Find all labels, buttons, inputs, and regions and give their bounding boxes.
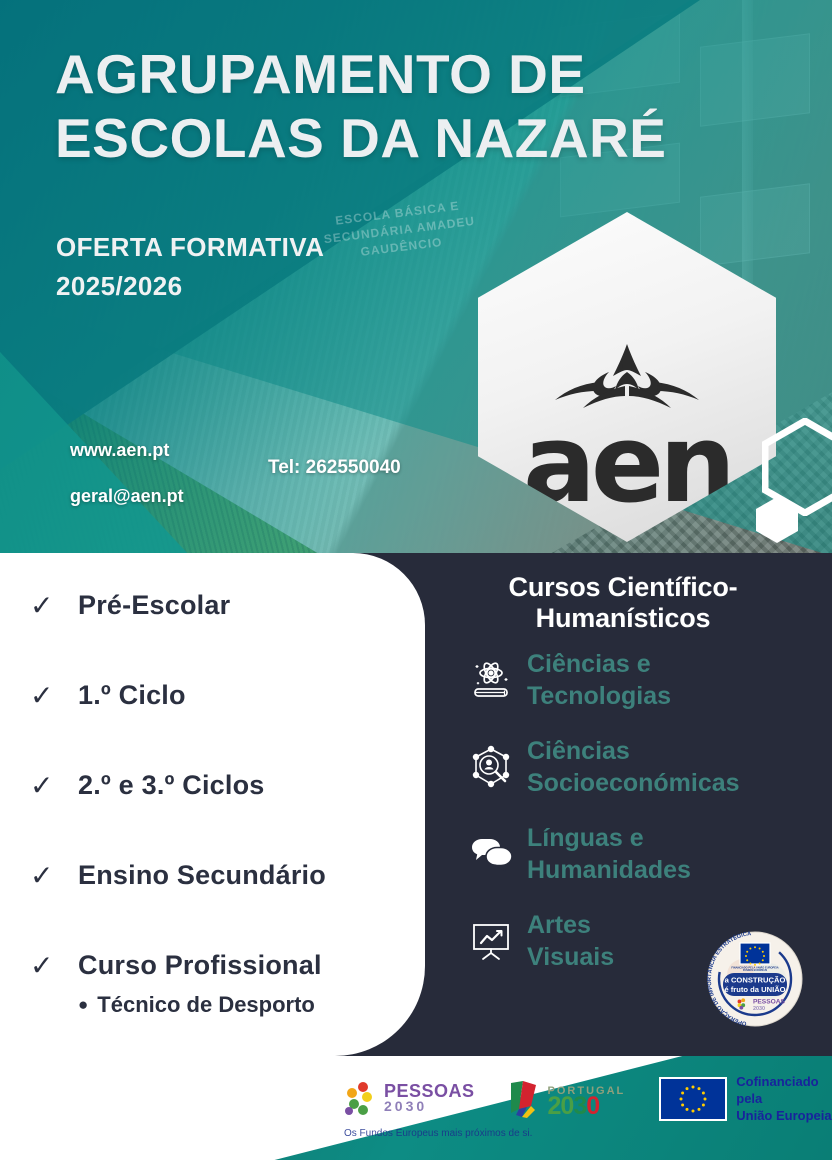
seal-brand-2: 2030 bbox=[753, 1006, 765, 1012]
header-section: ESCOLA BÁSICA E SECUNDÁRIA AMADEU GAUDÊN… bbox=[0, 0, 832, 556]
portugal-mark-icon bbox=[509, 1079, 543, 1119]
course-label: Ciências e Tecnologias bbox=[527, 648, 671, 712]
portugal-year: 2030 bbox=[548, 1099, 626, 1114]
pessoas-2030-logo: PESSOAS 2030 bbox=[343, 1080, 475, 1118]
bullet-icon: ● bbox=[78, 995, 88, 1015]
course-label: Artes Visuais bbox=[527, 909, 614, 973]
check-icon: ✓ bbox=[30, 679, 78, 712]
subtitle-line-2: 2025/2026 bbox=[56, 267, 476, 306]
pessoas-mark-icon bbox=[343, 1080, 377, 1118]
list-item[interactable]: ✓ Ensino Secundário bbox=[0, 830, 420, 920]
course-line-2: Socioeconómicas bbox=[527, 769, 740, 797]
course-line-2: Tecnologias bbox=[527, 682, 671, 710]
eu-flag-icon bbox=[659, 1077, 727, 1121]
level-label: Ensino Secundário bbox=[78, 860, 326, 891]
poster-root: ESCOLA BÁSICA E SECUNDÁRIA AMADEU GAUDÊN… bbox=[0, 0, 832, 1160]
list-item[interactable]: ✓ 2.º e 3.º Ciclos bbox=[0, 740, 420, 830]
pessoas-year: 2030 bbox=[384, 1099, 475, 1114]
eu-construcao-seal: FINANCIADO PELA UNIÃO EUROPEIA FUNDOS EU… bbox=[707, 931, 803, 1027]
course-line-2: Visuais bbox=[527, 943, 614, 971]
presentation-chart-icon bbox=[455, 918, 527, 964]
svg-text:FUNDOS EUROPEUS: FUNDOS EUROPEUS bbox=[743, 969, 768, 972]
seal-line-1: a CONSTRUÇÃO bbox=[725, 976, 786, 985]
eu-line-1: Cofinanciado pela bbox=[736, 1073, 832, 1107]
footer-note: Os Fundos Europeus mais próximos de si. bbox=[344, 1128, 532, 1139]
list-item[interactable]: ✓ Pré-Escolar bbox=[0, 560, 420, 650]
level-label: Curso Profissional bbox=[78, 950, 322, 981]
subtitle-block: OFERTA FORMATIVA 2025/2026 bbox=[56, 228, 476, 306]
footer-logo-row: PESSOAS 2030 PORTUGAL 2030 bbox=[343, 1073, 832, 1124]
portugal-2030-logo: PORTUGAL 2030 bbox=[509, 1079, 626, 1119]
page-title: AGRUPAMENTO DE ESCOLAS DA NAZARÉ bbox=[55, 42, 755, 170]
atom-book-icon bbox=[455, 657, 527, 703]
aen-wordmark: aen bbox=[523, 422, 731, 508]
phone-text[interactable]: Tel: 262550040 bbox=[268, 457, 401, 479]
course-line-1: Artes bbox=[527, 911, 591, 939]
course-line-1: Ciências bbox=[527, 737, 630, 765]
check-icon: ✓ bbox=[30, 949, 78, 982]
course-label: Ciências Socioeconómicas bbox=[527, 735, 740, 799]
sub-item-label: Técnico de Desporto bbox=[97, 992, 315, 1018]
eu-cofinance-block: Cofinanciado pela União Europeia bbox=[659, 1073, 832, 1124]
course-label: Línguas e Humanidades bbox=[527, 822, 691, 886]
eu-line-2: União Europeia bbox=[736, 1107, 832, 1124]
course-line-1: Línguas e bbox=[527, 824, 644, 852]
seal-line-2: é fruto da UNIÃO bbox=[724, 985, 785, 994]
course-line-1: Ciências e bbox=[527, 650, 651, 678]
portugal-wordmark: PORTUGAL 2030 bbox=[548, 1084, 626, 1114]
speech-bubbles-icon bbox=[455, 831, 527, 877]
eu-cofinance-text: Cofinanciado pela União Europeia bbox=[736, 1073, 832, 1124]
website-text[interactable]: www.aen.pt bbox=[70, 440, 169, 461]
list-item[interactable]: Ciências Socioeconómicas bbox=[455, 723, 825, 810]
list-item[interactable]: ✓ 1.º Ciclo bbox=[0, 650, 420, 740]
pessoas-wordmark: PESSOAS 2030 bbox=[384, 1084, 475, 1114]
list-item[interactable]: Línguas e Humanidades bbox=[455, 810, 825, 897]
subtitle-line-1: OFERTA FORMATIVA bbox=[56, 228, 476, 267]
pessoas-name: PESSOAS bbox=[384, 1084, 475, 1099]
education-levels-list: ✓ Pré-Escolar ✓ 1.º Ciclo ✓ 2.º e 3.º Ci… bbox=[0, 560, 420, 1018]
level-label: 2.º e 3.º Ciclos bbox=[78, 770, 265, 801]
network-magnifier-person-icon bbox=[455, 744, 527, 790]
list-sub-item[interactable]: ● Técnico de Desporto bbox=[0, 992, 420, 1018]
course-line-2: Humanidades bbox=[527, 856, 691, 884]
courses-title: Cursos Científico-Humanísticos bbox=[428, 572, 818, 634]
check-icon: ✓ bbox=[30, 859, 78, 892]
email-text[interactable]: geral@aen.pt bbox=[70, 486, 184, 507]
level-label: 1.º Ciclo bbox=[78, 680, 186, 711]
check-icon: ✓ bbox=[30, 769, 78, 802]
level-label: Pré-Escolar bbox=[78, 590, 230, 621]
seal-brand-1: PESSOAS bbox=[753, 999, 785, 1006]
check-icon: ✓ bbox=[30, 589, 78, 622]
list-item[interactable]: Ciências e Tecnologias bbox=[455, 636, 825, 723]
